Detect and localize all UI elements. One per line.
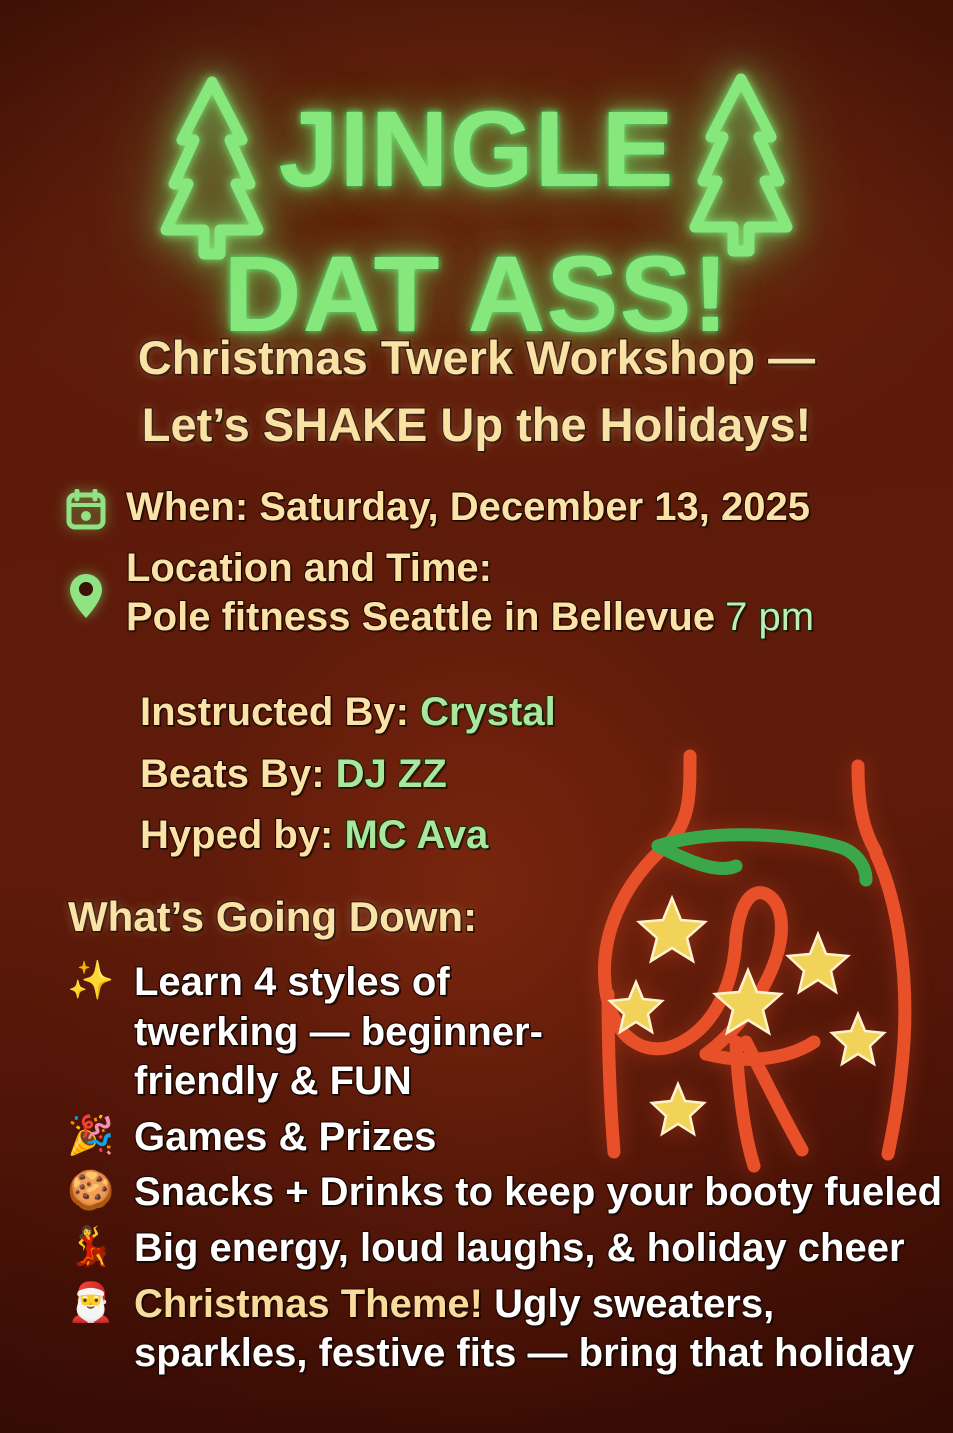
cookie-icon: 🍪 [62, 1168, 120, 1213]
subtitle-line-2: Let’s SHAKE Up the Holidays! [0, 392, 953, 459]
party-popper-icon: 🎉 [62, 1113, 120, 1158]
credit-name: DJ ZZ [336, 752, 447, 796]
title-line-1: JINGLE [278, 95, 674, 203]
list-item-text: Learn 4 styles of twerking — beginner-fr… [134, 958, 564, 1107]
credit-instructor: Instructed By: Crystal [140, 682, 556, 744]
credit-label: Beats By: [140, 752, 325, 796]
location-time: 7 pm [725, 595, 814, 639]
credits-block: Instructed By: Crystal Beats By: DJ ZZ H… [140, 682, 556, 867]
list-item: 🍪 Snacks + Drinks to keep your booty fue… [62, 1168, 953, 1218]
credit-dj: Beats By: DJ ZZ [140, 744, 556, 806]
list-item: 🎉 Games & Prizes [62, 1113, 953, 1163]
christmas-tree-icon [160, 72, 264, 262]
credit-name: MC Ava [344, 813, 488, 857]
detail-row-location: Location and Time: Pole fitness Seattle … [64, 544, 934, 642]
location-text: Location and Time: Pole fitness Seattle … [126, 544, 814, 642]
list-item-text: Games & Prizes [134, 1113, 436, 1163]
list-item: 💃 Big energy, loud laughs, & holiday che… [62, 1224, 953, 1274]
calendar-icon [64, 483, 108, 531]
location-label: Location and Time: [126, 544, 814, 593]
bullet-list: ✨ Learn 4 styles of twerking — beginner-… [62, 958, 953, 1385]
dancer-icon: 💃 [62, 1224, 120, 1269]
list-item-text: Snacks + Drinks to keep your booty fuele… [134, 1168, 942, 1218]
sparkles-icon: ✨ [62, 958, 120, 1003]
subtitle: Christmas Twerk Workshop — Let’s SHAKE U… [0, 325, 953, 458]
title-row-1: JINGLE [0, 36, 953, 262]
title-block: JINGLE DAT ASS! [0, 36, 953, 348]
section-heading: What’s Going Down: [68, 893, 477, 941]
credit-mc: Hyped by: MC Ava [140, 805, 556, 867]
list-item: ✨ Learn 4 styles of twerking — beginner-… [62, 958, 953, 1107]
santa-icon: 🎅 [62, 1280, 120, 1325]
list-item-text: Christmas Theme! Ugly sweaters, sparkles… [134, 1280, 953, 1379]
list-item-highlight: Christmas Theme! [134, 1282, 483, 1326]
credit-label: Hyped by: [140, 813, 333, 857]
location-pin-icon [64, 544, 108, 622]
when-text: When: Saturday, December 13, 2025 [126, 483, 810, 532]
christmas-tree-icon [689, 69, 793, 259]
list-item-text: Big energy, loud laughs, & holiday cheer [134, 1224, 905, 1274]
subtitle-line-1: Christmas Twerk Workshop — [0, 325, 953, 392]
event-flyer: JINGLE DAT ASS! Christmas Twerk Workshop… [0, 0, 953, 1433]
location-venue-line: Pole fitness Seattle in Bellevue7 pm [126, 593, 814, 642]
detail-row-when: When: Saturday, December 13, 2025 [64, 483, 934, 532]
list-item: 🎅 Christmas Theme! Ugly sweaters, sparkl… [62, 1280, 953, 1379]
location-venue: Pole fitness Seattle in Bellevue [126, 595, 715, 639]
credit-label: Instructed By: [140, 690, 409, 734]
event-details: When: Saturday, December 13, 2025 Locati… [64, 483, 934, 653]
credit-name: Crystal [420, 690, 556, 734]
